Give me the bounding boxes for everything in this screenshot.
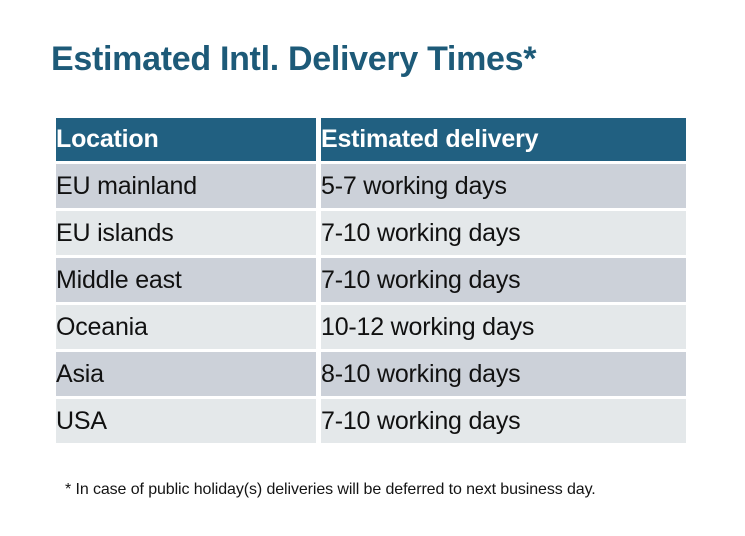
delivery-times-table: Location Estimated delivery EU mainland … <box>51 115 691 446</box>
cell-delivery: 7-10 working days <box>321 258 686 302</box>
cell-delivery: 5-7 working days <box>321 164 686 208</box>
table-row: EU mainland 5-7 working days <box>56 164 686 208</box>
cell-location: EU islands <box>56 211 316 255</box>
cell-location: Oceania <box>56 305 316 349</box>
column-header-location: Location <box>56 118 316 161</box>
table-header: Location Estimated delivery <box>56 118 686 161</box>
cell-delivery: 7-10 working days <box>321 399 686 443</box>
table-row: Middle east 7-10 working days <box>56 258 686 302</box>
table-header-row: Location Estimated delivery <box>56 118 686 161</box>
table-row: EU islands 7-10 working days <box>56 211 686 255</box>
delivery-times-page: Estimated Intl. Delivery Times* Location… <box>0 0 745 536</box>
cell-location: Middle east <box>56 258 316 302</box>
cell-delivery: 7-10 working days <box>321 211 686 255</box>
cell-delivery: 8-10 working days <box>321 352 686 396</box>
cell-location: Asia <box>56 352 316 396</box>
table-row: Asia 8-10 working days <box>56 352 686 396</box>
column-header-delivery: Estimated delivery <box>321 118 686 161</box>
table-row: USA 7-10 working days <box>56 399 686 443</box>
cell-location: USA <box>56 399 316 443</box>
cell-delivery: 10-12 working days <box>321 305 686 349</box>
footnote-text: * In case of public holiday(s) deliverie… <box>65 480 596 500</box>
table-row: Oceania 10-12 working days <box>56 305 686 349</box>
cell-location: EU mainland <box>56 164 316 208</box>
table-body: EU mainland 5-7 working days EU islands … <box>56 164 686 443</box>
page-title: Estimated Intl. Delivery Times* <box>51 38 536 80</box>
